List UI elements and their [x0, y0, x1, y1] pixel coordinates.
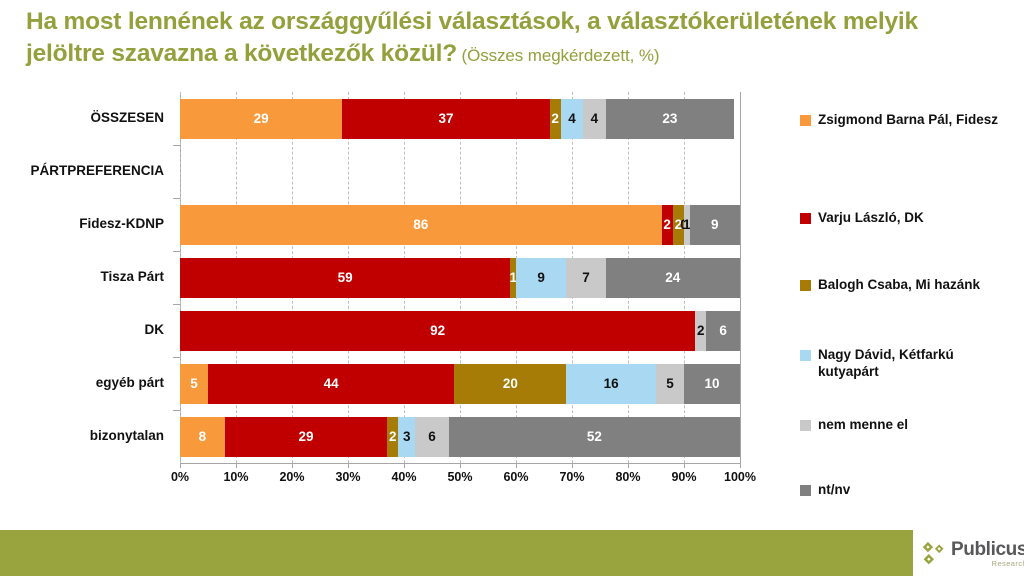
bar-segment: 2 [673, 205, 684, 245]
bar-segment-value: 5 [190, 376, 198, 391]
bar-segment-value: 24 [665, 270, 680, 285]
bar-segment: 59 [180, 258, 510, 298]
x-tick-label-30%: 30% [335, 470, 360, 484]
bar-segment-value: 37 [438, 111, 453, 126]
logo-name: Publicus [951, 540, 1024, 559]
bar-segment-value: 44 [324, 376, 339, 391]
x-axis-tick [292, 463, 293, 468]
bar-segment-value: 6 [428, 429, 436, 444]
bar-segment: 24 [606, 258, 740, 298]
x-tick-label-80%: 80% [615, 470, 640, 484]
bar-segment: 2 [695, 311, 706, 351]
bar-segment: 86 [180, 205, 662, 245]
legend-item-2[interactable]: Balogh Csaba, Mi hazánk [800, 277, 1005, 294]
bar-segment-value: 29 [254, 111, 269, 126]
bar-segment: 29 [225, 417, 387, 457]
x-axis-tick [684, 463, 685, 468]
chart-plot-area: ÖSSZESENPÁRTPREFERENCIAFidesz-KDNPTisza … [0, 92, 790, 502]
chart-title-block: Ha most lennének az országgyűlési válasz… [26, 6, 986, 71]
category-label-fidesz-kdnp: Fidesz-KDNP [0, 216, 164, 231]
category-label-tisza-p-rt: Tisza Párt [0, 269, 164, 284]
bar-segment: 5 [180, 364, 208, 404]
bar-segment-value: 7 [582, 270, 590, 285]
x-axis-tick [460, 463, 461, 468]
bar-segment-value: 2 [675, 217, 683, 232]
bar-segment-value: 4 [568, 111, 576, 126]
x-axis-tick [516, 463, 517, 468]
bar-segment: 2 [387, 417, 398, 457]
bar-segment-value: 2 [389, 429, 397, 444]
bar-segment: 37 [342, 99, 549, 139]
bar-segment: 4 [561, 99, 583, 139]
bar-segment-value: 16 [604, 376, 619, 391]
x-tick-label-90%: 90% [671, 470, 696, 484]
x-axis-tick [236, 463, 237, 468]
x-axis-tick-labels: 0%10%20%30%40%50%60%70%80%90%100% [180, 470, 741, 490]
legend-item-5[interactable]: nt/nv [800, 482, 1005, 499]
bar-segment: 23 [606, 99, 735, 139]
category-label-p-rtpreferencia: PÁRTPREFERENCIA [0, 163, 164, 178]
bar-segment-value: 2 [551, 111, 559, 126]
bar-segment-value: 86 [413, 217, 428, 232]
logo-tagline: Research [951, 560, 1024, 568]
bar-segment: 6 [706, 311, 740, 351]
bar-segment: 44 [208, 364, 454, 404]
publicus-logo: Publicus Research [921, 531, 1024, 576]
y-axis-tick [173, 410, 180, 411]
bar-segment: 9 [690, 205, 740, 245]
chart-legend: Zsigmond Barna Pál, FideszVarju László, … [800, 92, 1015, 492]
bar-segment-value: 9 [711, 217, 719, 232]
y-axis-tick [173, 251, 180, 252]
legend-swatch-icon [800, 485, 811, 496]
x-tick-label-0%: 0% [171, 470, 189, 484]
bar-row: 5919724 [180, 258, 740, 298]
bar-segment: 16 [566, 364, 656, 404]
y-axis-tick [173, 198, 180, 199]
gridline-100% [740, 92, 742, 463]
bar-segment-value: 92 [430, 323, 445, 338]
bar-segment: 10 [684, 364, 740, 404]
bar-segment: 29 [180, 99, 342, 139]
bar-segment: 4 [583, 99, 605, 139]
bar-segment-value: 6 [719, 323, 727, 338]
bar-segment-value: 23 [662, 111, 677, 126]
x-tick-label-70%: 70% [559, 470, 584, 484]
legend-swatch-icon [800, 350, 811, 361]
x-axis-tick [628, 463, 629, 468]
x-tick-label-10%: 10% [223, 470, 248, 484]
y-axis-tick [173, 357, 180, 358]
stacked-bar-plot: 2937244238622019591972492265442016510829… [180, 92, 740, 463]
x-axis-tick [572, 463, 573, 468]
bar-segment: 2 [662, 205, 673, 245]
x-tick-label-40%: 40% [391, 470, 416, 484]
bar-row: 82923652 [180, 417, 740, 457]
x-axis-tick [348, 463, 349, 468]
bar-row: 293724423 [180, 99, 740, 139]
footer-band [0, 530, 913, 576]
bar-segment: 2 [550, 99, 561, 139]
page-subtitle: (Összes megkérdezett, %) [462, 46, 660, 65]
bar-segment: 6 [415, 417, 449, 457]
bar-segment-value: 59 [338, 270, 353, 285]
bar-segment-value: 8 [199, 429, 207, 444]
bar-segment: 9 [516, 258, 566, 298]
y-axis-tick [173, 304, 180, 305]
legend-swatch-icon [800, 213, 811, 224]
category-label-bizonytalan: bizonytalan [0, 428, 164, 443]
legend-item-1[interactable]: Varju László, DK [800, 210, 1005, 227]
publicus-diamond-icon [921, 541, 947, 567]
legend-label: Zsigmond Barna Pál, Fidesz [818, 112, 998, 129]
bar-row: 8622019 [180, 205, 740, 245]
y-axis-tick [173, 145, 180, 146]
logo-wordmark: Publicus Research [951, 540, 1024, 568]
legend-item-4[interactable]: nem menne el [800, 417, 1005, 434]
bar-row: 5442016510 [180, 364, 740, 404]
x-axis-tick [404, 463, 405, 468]
legend-item-3[interactable]: Nagy Dávid, Kétfarkú kutyapárt [800, 347, 1005, 381]
x-tick-label-50%: 50% [447, 470, 472, 484]
bar-segment-value: 9 [537, 270, 545, 285]
bar-segment: 52 [449, 417, 740, 457]
legend-swatch-icon [800, 115, 811, 126]
bar-segment-value: 5 [666, 376, 674, 391]
x-axis-tick [740, 463, 741, 468]
legend-label: nt/nv [818, 482, 850, 499]
bar-segment: 7 [566, 258, 605, 298]
category-label-egy-b-p-rt: egyéb párt [0, 375, 164, 390]
bar-segment-value: 29 [298, 429, 313, 444]
x-tick-label-20%: 20% [279, 470, 304, 484]
y-axis-category-labels: ÖSSZESENPÁRTPREFERENCIAFidesz-KDNPTisza … [0, 92, 172, 463]
bar-row: 9226 [180, 311, 740, 351]
legend-label: Varju László, DK [818, 210, 924, 227]
bar-segment-value: 4 [591, 111, 599, 126]
legend-label: Nagy Dávid, Kétfarkú kutyapárt [818, 347, 1005, 381]
legend-swatch-icon [800, 280, 811, 291]
legend-label: Balogh Csaba, Mi hazánk [818, 277, 980, 294]
bar-segment: 3 [398, 417, 415, 457]
bar-segment-value: 52 [587, 429, 602, 444]
bar-segment-value: 10 [704, 376, 719, 391]
bar-segment: 8 [180, 417, 225, 457]
legend-swatch-icon [800, 420, 811, 431]
legend-item-0[interactable]: Zsigmond Barna Pál, Fidesz [800, 112, 1005, 129]
category-label--sszesen: ÖSSZESEN [0, 110, 164, 125]
bar-segment: 20 [454, 364, 566, 404]
bar-segment: 5 [656, 364, 684, 404]
x-tick-label-100%: 100% [724, 470, 756, 484]
legend-label: nem menne el [818, 417, 908, 434]
category-label-dk: DK [0, 322, 164, 337]
bar-segment-value: 2 [663, 217, 671, 232]
bar-segment-value: 3 [403, 429, 411, 444]
bar-segment: 92 [180, 311, 695, 351]
x-axis-tick [180, 463, 181, 468]
x-tick-label-60%: 60% [503, 470, 528, 484]
bar-segment-value: 20 [503, 376, 518, 391]
bar-segment-value: 2 [697, 323, 705, 338]
